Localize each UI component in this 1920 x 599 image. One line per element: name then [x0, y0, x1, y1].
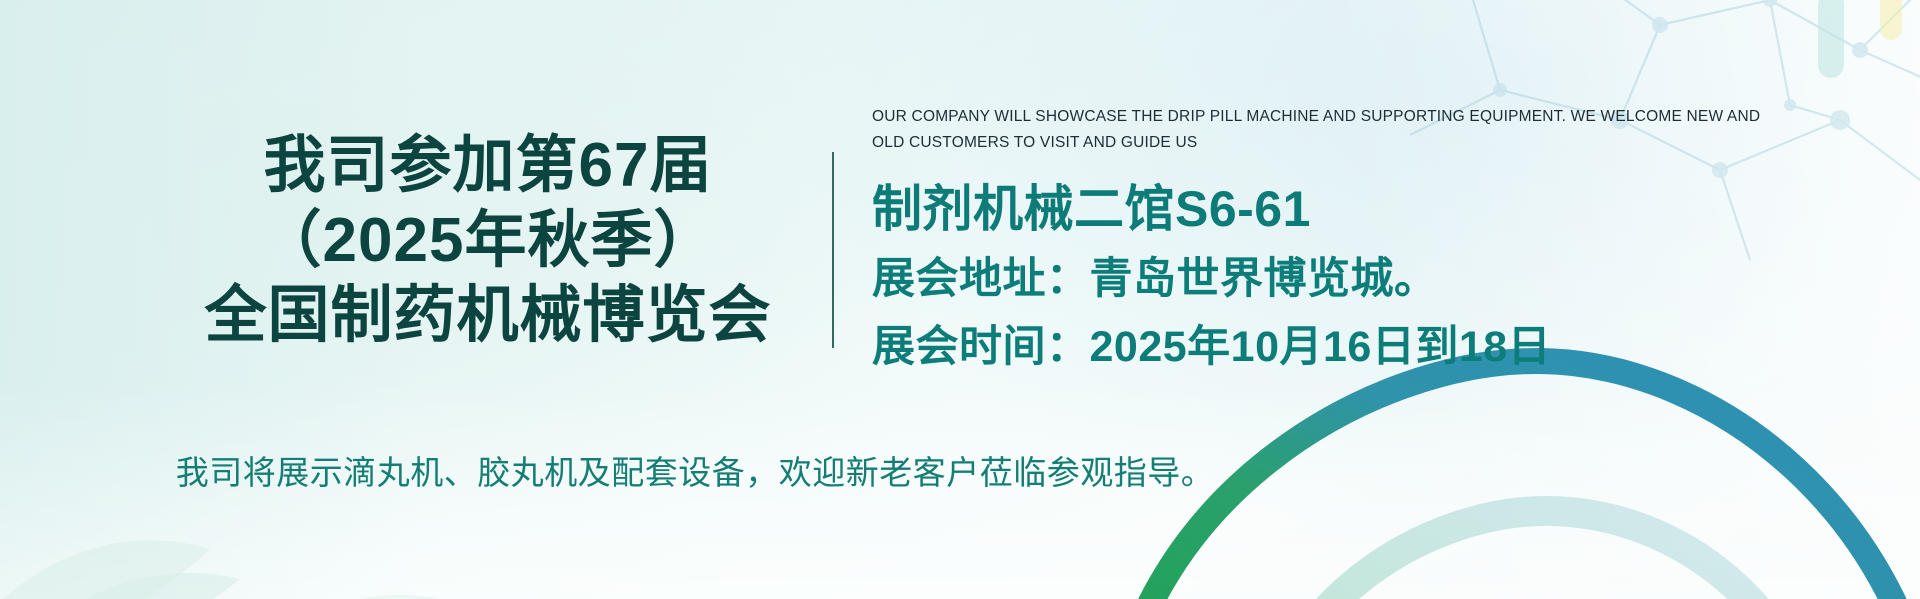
event-dates: 展会时间：2025年10月16日到18日	[872, 318, 1832, 376]
banner-title: 我司参加第67届 （2025年秋季） 全国制药机械博览会	[152, 128, 824, 353]
venue-address: 展会地址：青岛世界博览城。	[872, 250, 1832, 308]
banner-details: OUR COMPANY WILL SHOWCASE THE DRIP PILL …	[872, 104, 1832, 376]
banner-content: 我司参加第67届 （2025年秋季） 全国制药机械博览会 OUR COMPANY…	[0, 0, 1920, 599]
title-line-3: 全国制药机械博览会	[152, 278, 824, 353]
banner-subtitle: 我司将展示滴丸机、胶丸机及配套设备，欢迎新老客户莅临参观指导。	[0, 452, 1390, 494]
title-line-1: 我司参加第67届	[152, 128, 824, 203]
title-line-2: （2025年秋季）	[152, 203, 824, 278]
exhibition-banner: 我司参加第67届 （2025年秋季） 全国制药机械博览会 OUR COMPANY…	[0, 0, 1920, 599]
english-note: OUR COMPANY WILL SHOWCASE THE DRIP PILL …	[872, 104, 1788, 156]
booth-number: 制剂机械二馆S6-61	[872, 178, 1832, 240]
vertical-divider	[832, 152, 834, 348]
